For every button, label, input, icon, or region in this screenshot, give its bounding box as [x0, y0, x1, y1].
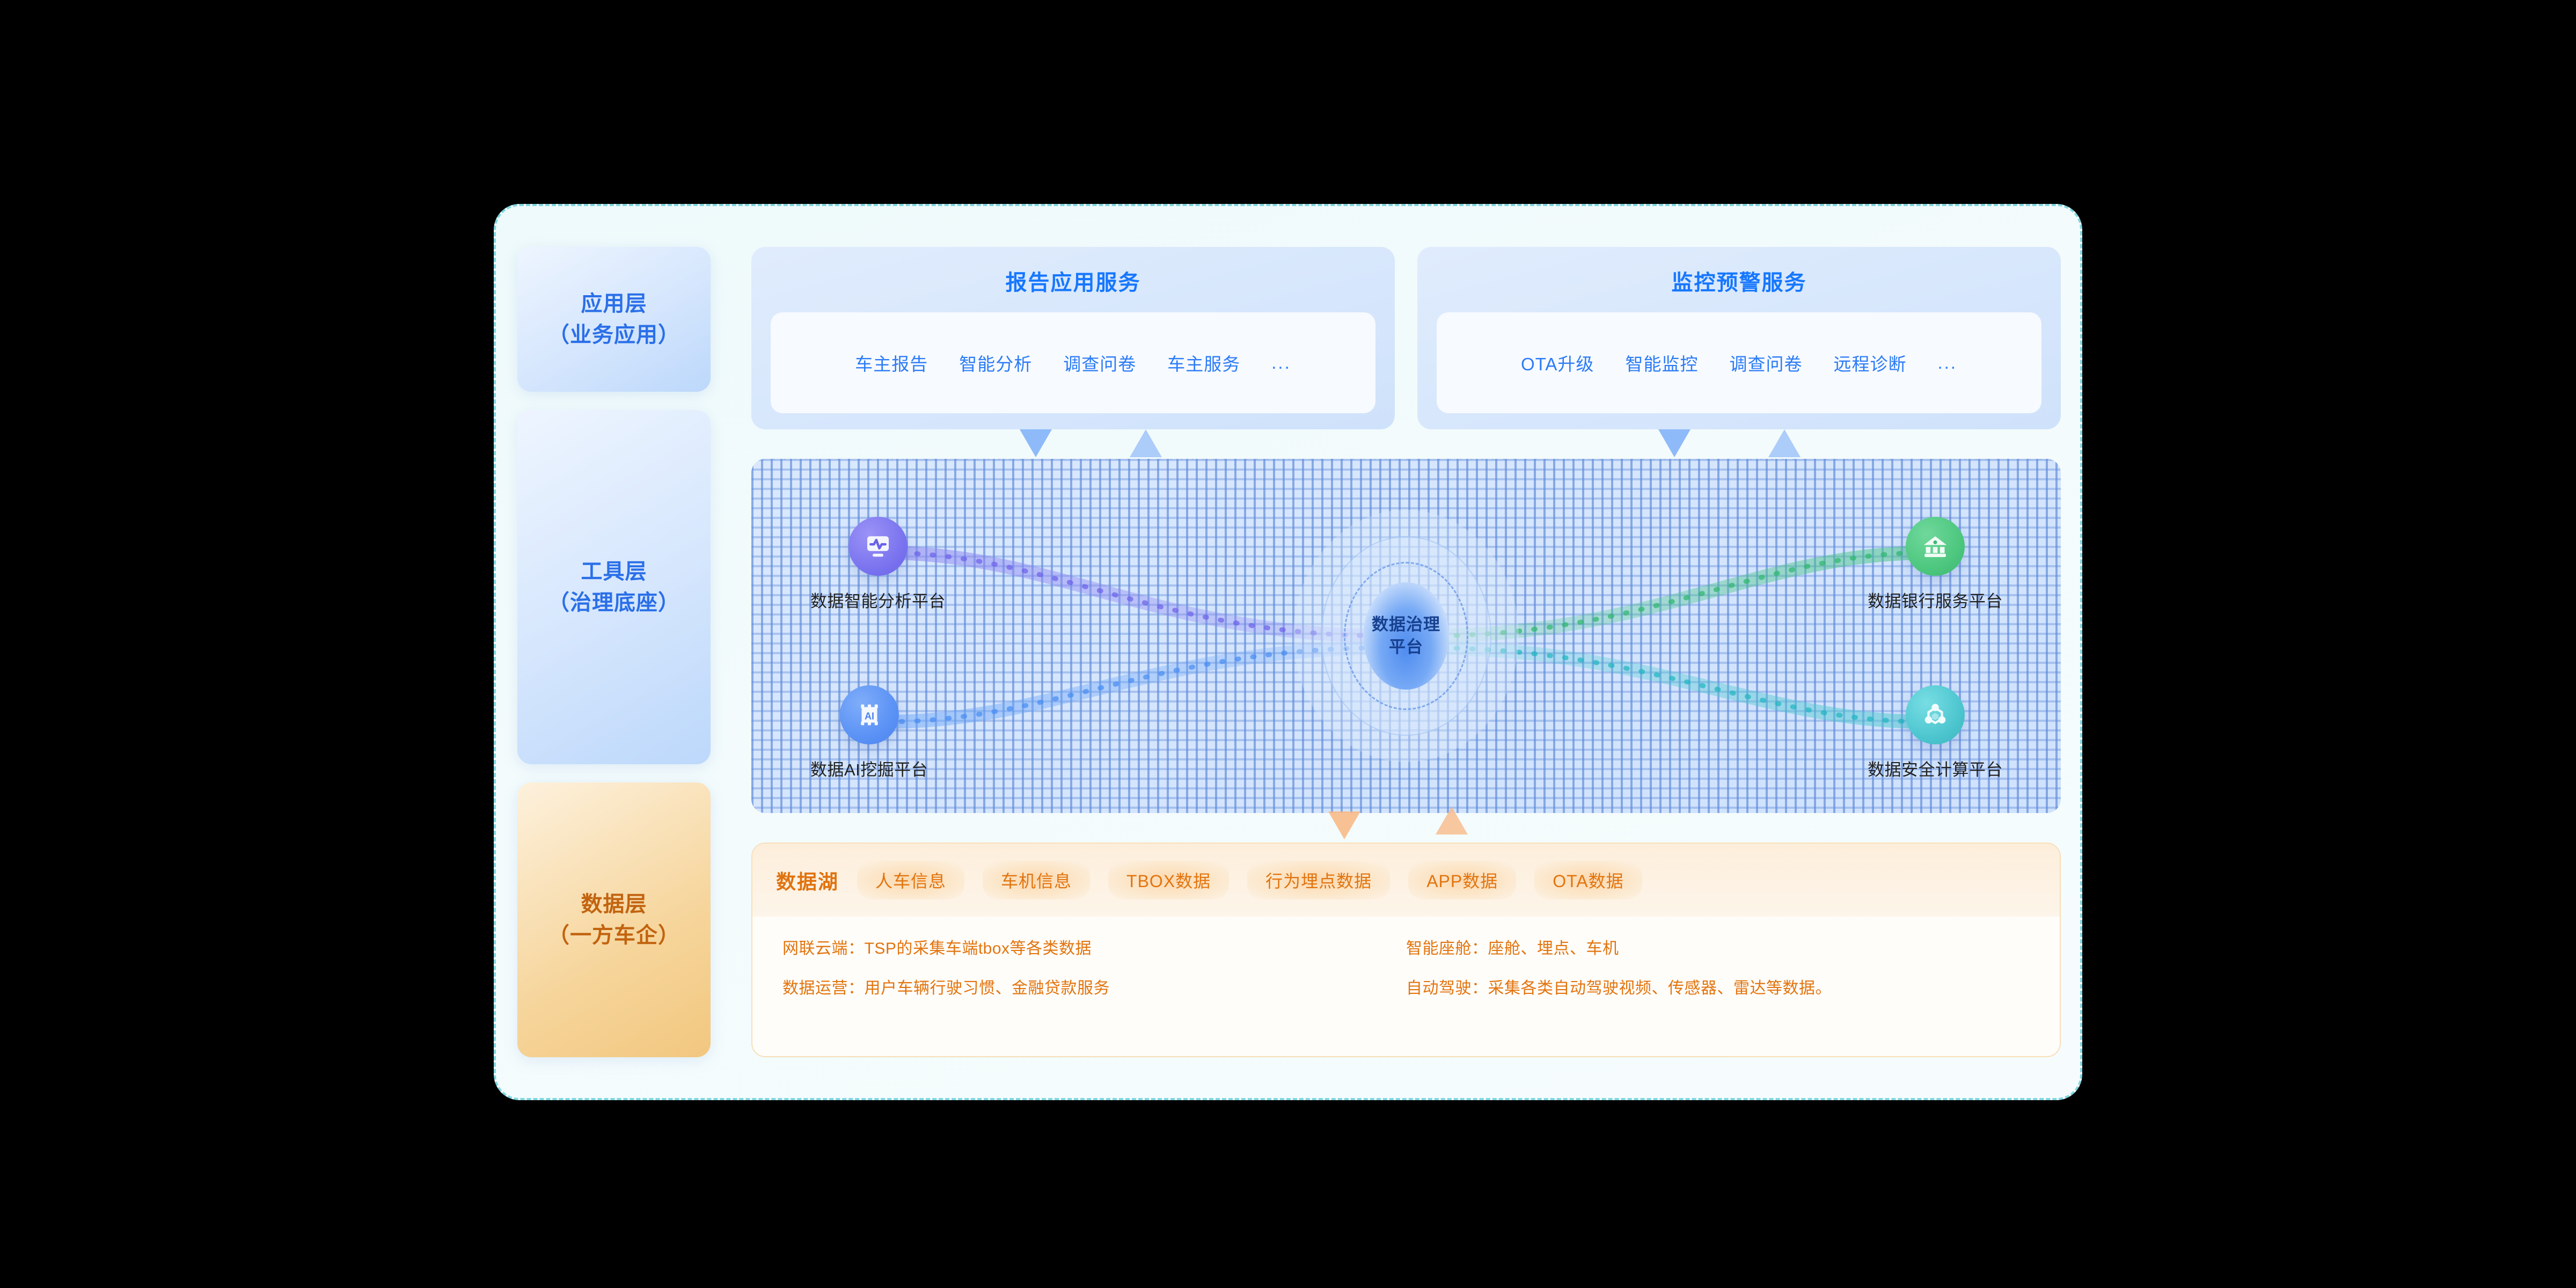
tool-node-label-smart-analysis: 数据智能分析平台 — [810, 588, 946, 612]
data-lake-description-column-left: 网联云端：TSP的采集车端tbox等各类数据 数据运营：用户车辆行驶习惯、金融贷… — [782, 935, 1406, 998]
application-layer: 报告应用服务 车主报告 智能分析 调查问卷 车主服务 ... 监控预警服务 OT… — [751, 247, 2061, 429]
data-lake-description-column-right: 智能座舱：座舱、埋点、车机 自动驾驶：采集各类自动驾驶视频、传感器、雷达等数据。 — [1406, 935, 2030, 998]
service-item-owner-report[interactable]: 车主报告 — [855, 350, 928, 376]
tool-node-smart-analysis[interactable]: 数据智能分析平台 — [810, 517, 946, 612]
arrow-down-tool-to-data — [1328, 811, 1360, 839]
layer-name-tool: 工具层 — [581, 556, 647, 587]
data-desc-autonomous-driving: 自动驾驶：采集各类自动驾驶视频、传感器、雷达等数据。 — [1406, 975, 2030, 998]
data-tag-tbox[interactable]: TBOX数据 — [1108, 861, 1229, 899]
data-lake-card: 数据湖 人车信息 车机信息 TBOX数据 行为埋点数据 APP数据 OTA数据 … — [751, 843, 2061, 1057]
data-lake-header: 数据湖 人车信息 车机信息 TBOX数据 行为埋点数据 APP数据 OTA数据 — [752, 844, 2060, 917]
service-title-report: 报告应用服务 — [1006, 265, 1141, 296]
data-desc-cloud-connected: 网联云端：TSP的采集车端tbox等各类数据 — [782, 935, 1406, 958]
service-item-survey[interactable]: 调查问卷 — [1063, 350, 1136, 376]
secure-node-glyph — [1919, 699, 1951, 731]
layer-name-data: 数据层 — [581, 889, 647, 920]
layer-card-tool[interactable]: 工具层 （治理底座） — [517, 410, 711, 764]
tool-node-ai-mining[interactable]: AI 数据AI挖掘平台 — [810, 685, 928, 780]
tool-node-secure-compute[interactable]: 数据安全计算平台 — [1868, 685, 2003, 780]
bank-glyph — [1919, 530, 1951, 562]
arrow-up-data-to-tool — [1436, 807, 1468, 835]
data-tag-ota[interactable]: OTA数据 — [1534, 861, 1642, 899]
data-desc-data-operations: 数据运营：用户车辆行驶习惯、金融贷款服务 — [782, 975, 1406, 998]
layer-rail: 应用层 （业务应用） 工具层 （治理底座） 数据层 （一方车企） — [517, 247, 711, 1057]
data-lake-title: 数据湖 — [776, 866, 839, 895]
service-item-more-report[interactable]: ... — [1271, 353, 1291, 373]
data-desc-smart-cockpit: 智能座舱：座舱、埋点、车机 — [1406, 935, 2030, 958]
data-tag-app[interactable]: APP数据 — [1408, 861, 1516, 899]
service-item-ota-upgrade[interactable]: OTA升级 — [1521, 350, 1594, 376]
tool-node-label-data-bank: 数据银行服务平台 — [1868, 588, 2003, 612]
arrow-up-tool-to-app-right — [1768, 429, 1801, 457]
service-item-smart-analysis[interactable]: 智能分析 — [959, 350, 1032, 376]
monitor-pulse-icon — [848, 517, 908, 576]
monitor-pulse-glyph — [862, 530, 894, 562]
data-tag-person-vehicle[interactable]: 人车信息 — [857, 861, 964, 899]
layer-sub-tool: （治理底座） — [548, 587, 680, 618]
tool-node-label-secure-compute: 数据安全计算平台 — [1868, 756, 2003, 780]
service-item-smart-monitor[interactable]: 智能监控 — [1625, 350, 1698, 376]
center-node-governance-platform[interactable]: 数据治理 平台 — [1363, 582, 1449, 690]
arrow-up-tool-to-app-left — [1130, 429, 1162, 457]
bank-icon — [1906, 517, 1965, 576]
arrow-down-app-to-tool-right — [1658, 429, 1690, 457]
layer-name-application: 应用层 — [581, 288, 647, 319]
service-item-owner-service[interactable]: 车主服务 — [1167, 350, 1240, 376]
service-item-list-report: 车主报告 智能分析 调查问卷 车主服务 ... — [771, 312, 1375, 413]
service-title-monitor: 监控预警服务 — [1672, 265, 1807, 296]
layer-sub-application: （业务应用） — [548, 319, 680, 350]
tool-layer: 数据治理 平台 数据智能分析平台 AI 数据 — [751, 459, 2061, 813]
data-tag-behavior-tracking[interactable]: 行为埋点数据 — [1247, 861, 1390, 899]
service-item-survey-2[interactable]: 调查问卷 — [1729, 350, 1802, 376]
service-item-more-monitor[interactable]: ... — [1937, 353, 1957, 373]
ai-chip-icon: AI — [840, 685, 899, 744]
ai-chip-glyph: AI — [854, 699, 885, 730]
data-tag-vehicle-machine[interactable]: 车机信息 — [983, 861, 1090, 899]
layer-card-application[interactable]: 应用层 （业务应用） — [517, 247, 711, 392]
service-box-monitor[interactable]: 监控预警服务 OTA升级 智能监控 调查问卷 远程诊断 ... — [1417, 247, 2061, 429]
data-lake-description-body: 网联云端：TSP的采集车端tbox等各类数据 数据运营：用户车辆行驶习惯、金融贷… — [752, 917, 2060, 998]
tool-node-label-ai-mining: 数据AI挖掘平台 — [810, 756, 928, 780]
tool-node-data-bank[interactable]: 数据银行服务平台 — [1868, 517, 2003, 612]
svg-text:AI: AI — [865, 711, 874, 721]
layer-card-data[interactable]: 数据层 （一方车企） — [517, 782, 711, 1057]
service-item-list-monitor: OTA升级 智能监控 调查问卷 远程诊断 ... — [1437, 312, 2041, 413]
service-box-report[interactable]: 报告应用服务 车主报告 智能分析 调查问卷 车主服务 ... — [751, 247, 1395, 429]
secure-node-icon — [1906, 685, 1965, 744]
service-item-remote-diagnosis[interactable]: 远程诊断 — [1833, 350, 1906, 376]
center-node-label-line1: 数据治理 — [1372, 613, 1440, 636]
arrow-down-app-to-tool-left — [1020, 429, 1052, 457]
layer-sub-data: （一方车企） — [548, 920, 680, 951]
center-node-label-line2: 平台 — [1389, 636, 1423, 658]
